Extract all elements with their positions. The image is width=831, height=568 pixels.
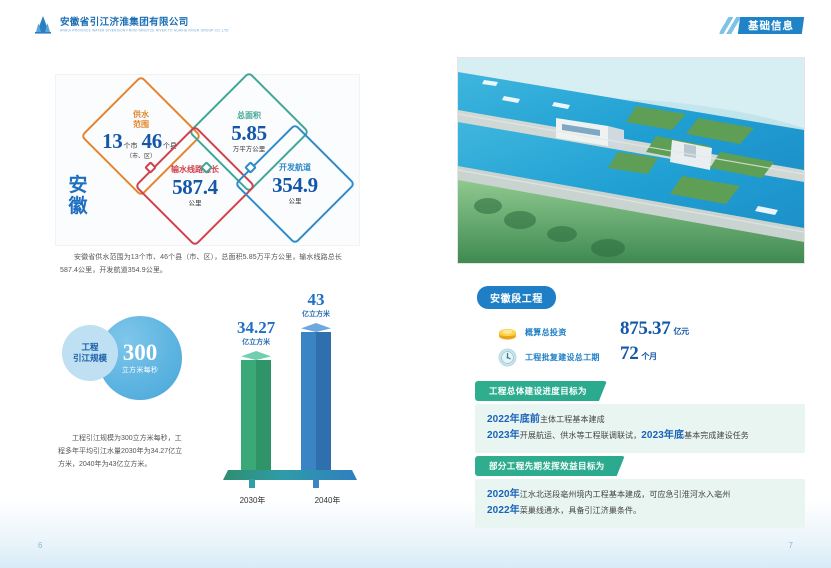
investment-amount: 875.37 bbox=[620, 318, 670, 340]
goal-line-4: 2022年菜巢线通水，具备引江济巢条件。 bbox=[487, 503, 793, 519]
duration-amount: 72 bbox=[620, 343, 638, 365]
diamond-1-unit-a: 个市 bbox=[124, 141, 138, 151]
chart-x-axis: 2030年 2040年 bbox=[215, 495, 365, 506]
bar-2040 bbox=[301, 323, 331, 472]
goal-tab-overall: 工程总体建设进度目标为 bbox=[475, 381, 607, 401]
diamond-1-sub: （市、区） bbox=[126, 153, 156, 162]
goal-2-text2: 基本完成建设任务 bbox=[684, 431, 749, 440]
goal-line-3: 2020年江水北送段亳州境内工程基本建成，可应急引淮河水入亳州 bbox=[487, 487, 793, 503]
chart-peg-2030 bbox=[249, 479, 255, 488]
chart-peg-2040 bbox=[313, 479, 319, 488]
page-spread: 安徽省引江济淮集团有限公司 ANHUI PROVINCE WATER DIVER… bbox=[0, 0, 831, 568]
left-page: 供水 范围 13 个市 46 个县 （市、区） 总面积 5.85 bbox=[0, 0, 415, 568]
stat-value-duration: 72 个月 bbox=[620, 343, 657, 365]
stat-label-investment: 概算总投资 bbox=[525, 327, 567, 338]
diamond-infographic-panel: 供水 范围 13 个市 46 个县 （市、区） 总面积 5.85 bbox=[55, 74, 360, 246]
goal-line-1: 2022年底前主体工程基本建成 bbox=[487, 412, 793, 428]
scale-label-circle: 工程 引江规模 bbox=[62, 325, 118, 381]
stat-label-duration: 工程批复建设总工期 bbox=[525, 352, 600, 363]
anhui-section-pill: 安徽段工程 bbox=[477, 286, 556, 309]
bar-value-2030: 34.27 bbox=[237, 318, 275, 337]
duration-unit: 个月 bbox=[641, 351, 656, 362]
goal-tab-early: 部分工程先期发挥效益目标为 bbox=[475, 456, 625, 476]
diamond-1-title-line2: 范围 bbox=[133, 120, 149, 129]
bar-group-2040: 43 亿立方米 bbox=[301, 290, 331, 472]
goal-1-year: 2022年底前 bbox=[487, 414, 540, 425]
bar-group-2030: 34.27 亿立方米 bbox=[237, 318, 275, 472]
goal-block-overall-progress: 工程总体建设进度目标为 2022年底前主体工程基本建成 2023年开展航运、供水… bbox=[475, 381, 805, 453]
scale-caption: 工程引江规模为300立方米每秒，工程多年平均引江水量2030年为34.27亿立方… bbox=[58, 432, 188, 471]
right-page: 安徽段工程 概算总投资 875.37 亿元 bbox=[415, 0, 831, 568]
province-label: 安徽 bbox=[66, 175, 90, 217]
goal-3-year: 2020年 bbox=[487, 489, 520, 500]
page-number-left: 6 bbox=[38, 541, 42, 550]
goal-1-text: 主体工程基本建成 bbox=[540, 415, 605, 424]
stat-row-investment: 概算总投资 bbox=[497, 322, 567, 343]
scale-unit: 立方米每秒 bbox=[122, 365, 159, 376]
goal-body-early: 2020年江水北送段亳州境内工程基本建成，可应急引淮河水入亳州 2022年菜巢线… bbox=[475, 479, 805, 528]
water-volume-bar-chart: 34.27 亿立方米 43 亿立方米 bbox=[215, 278, 365, 510]
goal-2-year: 2023年 bbox=[487, 430, 520, 441]
x-tick-2030: 2030年 bbox=[240, 495, 266, 506]
bar-value-2040: 43 bbox=[308, 290, 325, 309]
scale-label-line2: 引江规模 bbox=[73, 353, 107, 364]
goal-2-year2: 2023年底 bbox=[641, 430, 684, 441]
investment-unit: 亿元 bbox=[673, 326, 688, 337]
diamond-2-value: 5.85 bbox=[231, 122, 267, 145]
bar-unit-2030: 亿立方米 bbox=[242, 337, 270, 348]
clock-icon bbox=[497, 347, 518, 368]
diamond-2-title: 总面积 bbox=[237, 111, 261, 121]
bar-2030 bbox=[241, 351, 271, 472]
goal-block-early-benefit: 部分工程先期发挥效益目标为 2020年江水北送段亳州境内工程基本建成，可应急引淮… bbox=[475, 456, 805, 528]
scale-label-line1: 工程 bbox=[81, 342, 98, 353]
goal-3-text: 江水北送段亳州境内工程基本建成，可应急引淮河水入亳州 bbox=[520, 490, 731, 499]
scale-value: 300 bbox=[123, 341, 158, 365]
project-rendering-photo bbox=[457, 57, 805, 264]
x-tick-2040: 2040年 bbox=[315, 495, 341, 506]
diamond-4-title: 开发航道 bbox=[279, 163, 311, 173]
stat-row-duration: 工程批复建设总工期 bbox=[497, 347, 600, 368]
goal-4-year: 2022年 bbox=[487, 505, 520, 516]
goal-line-2: 2023年开展航运、供水等工程联调联试，2023年底基本完成建设任务 bbox=[487, 428, 793, 444]
chart-base-plinth bbox=[223, 470, 357, 480]
diamond-1-title-line1: 供水 bbox=[133, 110, 149, 119]
bar-unit-2040: 亿立方米 bbox=[302, 309, 330, 320]
diamond-4-unit: 公里 bbox=[289, 197, 302, 206]
diamond-1-value-a: 13 bbox=[102, 130, 122, 153]
diamond-4-value: 354.9 bbox=[272, 174, 318, 197]
coins-icon bbox=[497, 322, 518, 343]
diamond-3-unit: 公里 bbox=[189, 199, 202, 208]
diamond-3-value: 587.4 bbox=[172, 176, 218, 199]
goal-body-overall: 2022年底前主体工程基本建成 2023年开展航运、供水等工程联调联试，2023… bbox=[475, 404, 805, 453]
diamond-caption: 安徽省供水范围为13个市、46个县（市、区），总面积5.85万平方公里，输水线路… bbox=[60, 252, 356, 277]
page-number-right: 7 bbox=[789, 541, 793, 550]
goal-4-text: 菜巢线通水，具备引江济巢条件。 bbox=[520, 506, 642, 515]
goal-2-text: 开展航运、供水等工程联调联试， bbox=[520, 431, 642, 440]
stat-value-investment: 875.37 亿元 bbox=[620, 318, 689, 340]
